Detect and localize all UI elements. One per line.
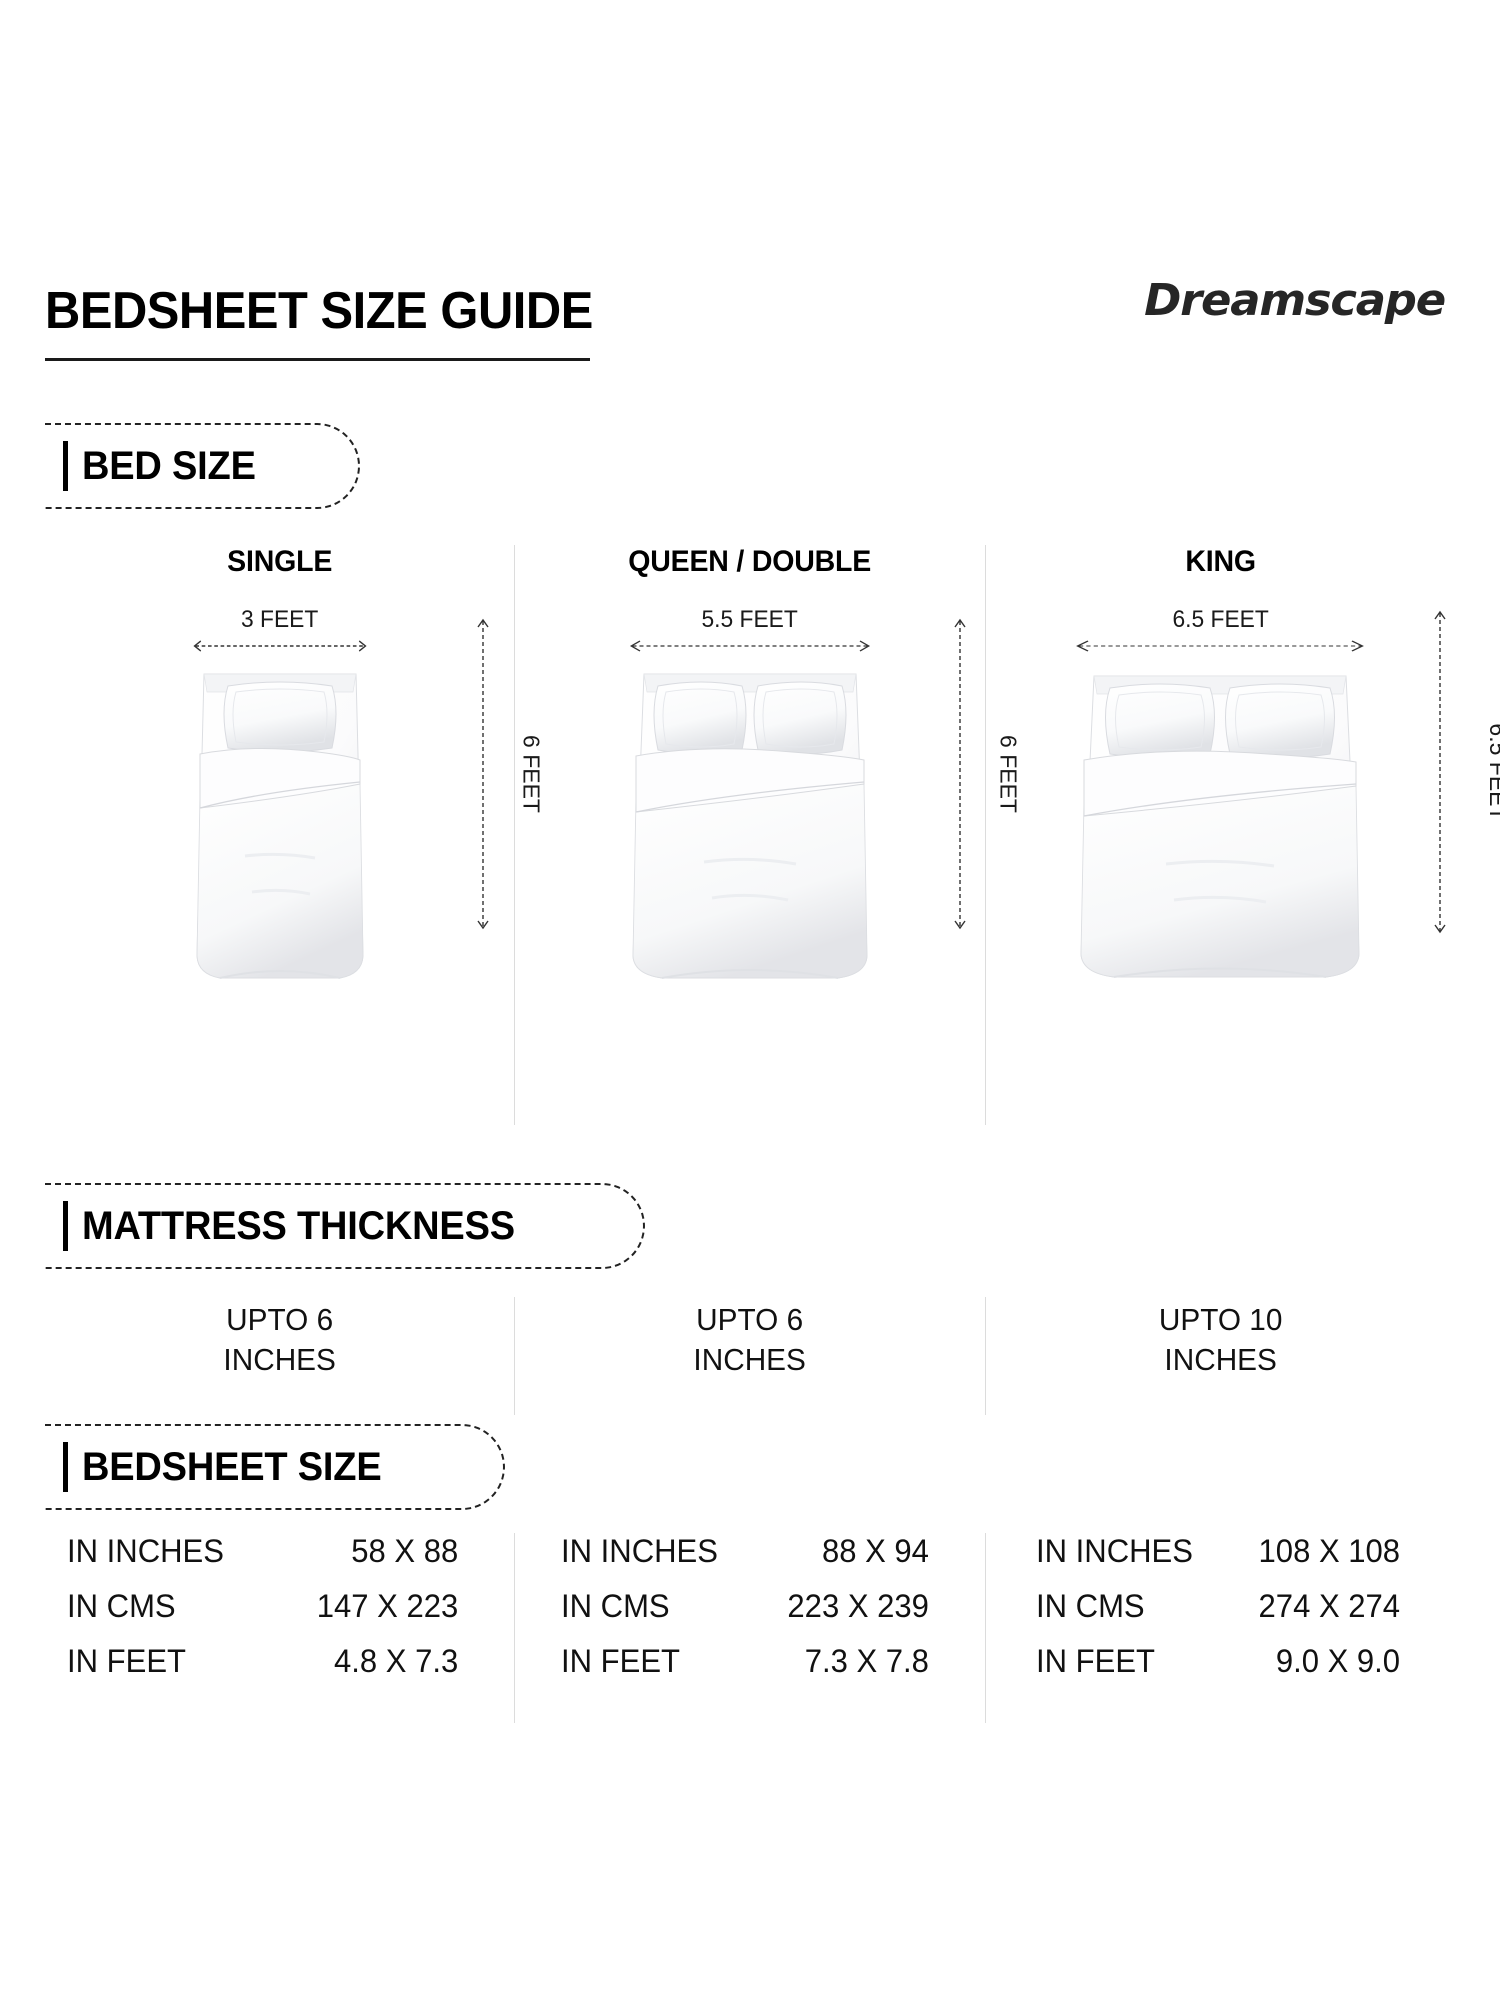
spec-value-feet: 9.0 X 9.0 [1235, 1643, 1433, 1680]
table-row: IN FEET 4.8 X 7.3 [67, 1643, 491, 1698]
spec-value-inches: 108 X 108 [1235, 1533, 1433, 1570]
bedsheet-column-single: IN INCHES 58 X 88 IN CMS 147 X 223 IN FE… [45, 1533, 514, 1723]
badge-accent-bar [63, 441, 68, 491]
bedsheet-column-queen-double: IN INCHES 88 X 94 IN CMS 223 X 239 IN FE… [514, 1533, 984, 1723]
bed-width-label-single: 3 FEET [57, 606, 503, 634]
section-title-mattress-thickness: MATTRESS THICKNESS [82, 1204, 619, 1249]
mattress-thickness-unit-king: INCHES [995, 1340, 1446, 1380]
table-row: IN CMS 223 X 239 [561, 1588, 962, 1643]
table-row: IN CMS 147 X 223 [67, 1588, 491, 1643]
section-badge-mattress-thickness: MATTRESS THICKNESS [45, 1183, 645, 1269]
section-title-bed-size: BED SIZE [82, 444, 360, 489]
bedsheet-column-king: IN INCHES 108 X 108 IN CMS 274 X 274 IN … [985, 1533, 1455, 1723]
infographic-page: BEDSHEET SIZE GUIDE Dreamscape BED SIZE … [0, 0, 1500, 2000]
width-dimension-arrow-single [45, 638, 514, 654]
section-badge-bedsheet-size: BEDSHEET SIZE [45, 1424, 505, 1510]
spec-label-cms: IN CMS [67, 1588, 266, 1625]
length-dimension-single: 6 FEET [476, 615, 490, 933]
bedsheet-size-columns: IN INCHES 58 X 88 IN CMS 147 X 223 IN FE… [45, 1533, 1455, 1723]
spec-value-cms: 147 X 223 [266, 1588, 491, 1625]
spec-value-inches: 58 X 88 [266, 1533, 491, 1570]
mattress-thickness-king: UPTO 10 INCHES [995, 1297, 1446, 1379]
bed-graphic [624, 656, 876, 986]
bed-graphic [190, 656, 370, 986]
mattress-thickness-value-king: UPTO 10 [995, 1300, 1446, 1340]
spec-label-inches: IN INCHES [67, 1533, 266, 1570]
section-badge-bed-size: BED SIZE [45, 423, 360, 509]
table-row: IN FEET 7.3 X 7.8 [561, 1643, 962, 1698]
mattress-thickness-value-single: UPTO 6 [54, 1300, 505, 1340]
bed-width-label-king: 6.5 FEET [997, 606, 1443, 634]
spec-table-queen-double: IN INCHES 88 X 94 IN CMS 223 X 239 IN FE… [515, 1533, 984, 1698]
bed-illustration-queen-double [515, 656, 984, 986]
bed-illustration-king [986, 656, 1455, 986]
spec-label-feet: IN FEET [67, 1643, 266, 1680]
header: BEDSHEET SIZE GUIDE Dreamscape [45, 285, 1455, 405]
bed-size-columns: SINGLE 3 FEET [45, 545, 1455, 1125]
brand-logo: Dreamscape [1144, 275, 1445, 326]
bed-column-queen-double: QUEEN / DOUBLE 5.5 FEET [514, 545, 984, 1125]
spec-label-feet: IN FEET [561, 1643, 760, 1680]
section-title-bedsheet-size: BEDSHEET SIZE [82, 1445, 486, 1490]
bed-column-single: SINGLE 3 FEET [45, 545, 514, 1125]
spec-value-cms: 274 X 274 [1235, 1588, 1433, 1625]
width-dimension-arrow-queen-double [515, 638, 984, 654]
table-row: IN INCHES 88 X 94 [561, 1533, 962, 1588]
spec-table-single: IN INCHES 58 X 88 IN CMS 147 X 223 IN FE… [45, 1533, 514, 1698]
bed-name-queen-double: QUEEN / DOUBLE [527, 545, 973, 579]
title-underline [45, 358, 590, 361]
length-dimension-queen-double: 6 FEET [953, 615, 967, 933]
table-row: IN FEET 9.0 X 9.0 [1036, 1643, 1433, 1698]
table-row: IN CMS 274 X 274 [1036, 1588, 1433, 1643]
width-dimension-arrow-king [986, 638, 1455, 654]
spec-value-cms: 223 X 239 [760, 1588, 962, 1625]
bed-column-king: KING 6.5 FEET [985, 545, 1455, 1125]
bed-graphic [1070, 656, 1370, 986]
mattress-thickness-single: UPTO 6 INCHES [54, 1297, 505, 1379]
mattress-thickness-unit-single: INCHES [54, 1340, 505, 1380]
spec-label-cms: IN CMS [1036, 1588, 1235, 1625]
bed-name-king: KING [997, 545, 1443, 579]
spec-value-feet: 4.8 X 7.3 [266, 1643, 491, 1680]
spec-label-inches: IN INCHES [561, 1533, 760, 1570]
spec-label-cms: IN CMS [561, 1588, 760, 1625]
mattress-column-single: UPTO 6 INCHES [45, 1297, 514, 1415]
mattress-thickness-value-queen-double: UPTO 6 [525, 1300, 976, 1340]
spec-label-inches: IN INCHES [1036, 1533, 1235, 1570]
spec-value-inches: 88 X 94 [760, 1533, 962, 1570]
spec-table-king: IN INCHES 108 X 108 IN CMS 274 X 274 IN … [986, 1533, 1455, 1698]
spec-label-feet: IN FEET [1036, 1643, 1235, 1680]
spec-value-feet: 7.3 X 7.8 [760, 1643, 962, 1680]
table-row: IN INCHES 58 X 88 [67, 1533, 491, 1588]
mattress-thickness-unit-queen-double: INCHES [525, 1340, 976, 1380]
bed-illustration-single [45, 656, 514, 986]
mattress-thickness-columns: UPTO 6 INCHES UPTO 6 INCHES UPTO 10 INCH… [45, 1297, 1455, 1415]
bed-width-label-queen-double: 5.5 FEET [527, 606, 973, 634]
mattress-column-queen-double: UPTO 6 INCHES [514, 1297, 984, 1415]
bed-name-single: SINGLE [57, 545, 503, 579]
badge-accent-bar [63, 1442, 68, 1492]
table-row: IN INCHES 108 X 108 [1036, 1533, 1433, 1588]
badge-accent-bar [63, 1201, 68, 1251]
mattress-thickness-queen-double: UPTO 6 INCHES [525, 1297, 976, 1379]
length-dimension-king: 6.5 FEET [1433, 607, 1447, 937]
bed-length-label-king: 6.5 FEET [1481, 723, 1500, 820]
mattress-column-king: UPTO 10 INCHES [985, 1297, 1455, 1415]
